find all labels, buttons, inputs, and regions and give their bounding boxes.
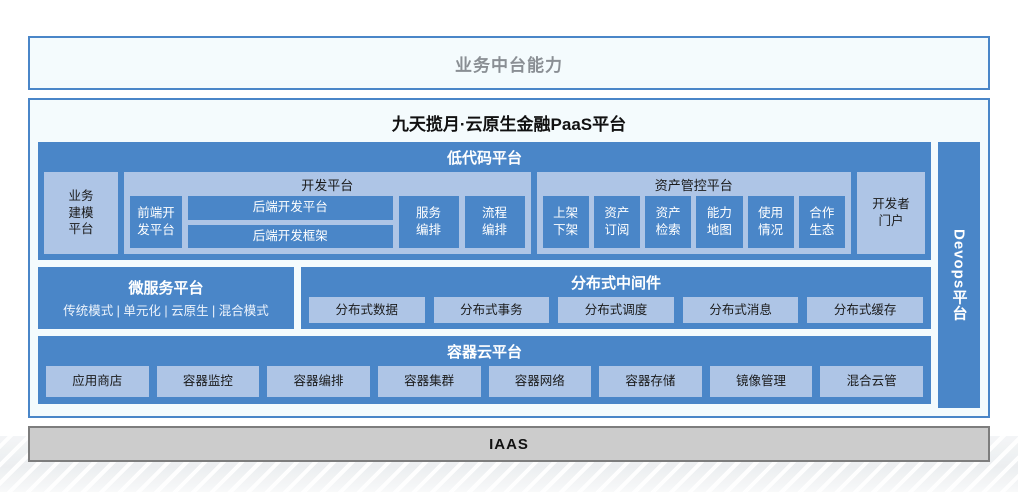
devops-platform-sidebar[interactable]: Devops平台 xyxy=(938,142,980,408)
asset-management-row: 上架 下架 资产 订阅 资产 检索 能力 地图 使用 情况 合作 生态 xyxy=(543,196,846,248)
architecture-diagram: 业务中台能力 九天揽月·云原生金融PaaS平台 低代码平台 业务 建模 平台 开… xyxy=(0,0,1018,492)
asset-item-subscription[interactable]: 资产 订阅 xyxy=(594,196,640,248)
devops-platform-label: Devops平台 xyxy=(949,229,970,321)
paas-platform-title: 九天揽月·云原生金融PaaS平台 xyxy=(38,106,980,142)
capability-band: 业务中台能力 xyxy=(28,36,990,90)
process-orchestration-card[interactable]: 流程 编排 xyxy=(465,196,525,248)
container-item-storage[interactable]: 容器存储 xyxy=(599,366,702,397)
backend-dev-column: 后端开发平台 后端开发框架 xyxy=(188,196,393,248)
asset-item-search[interactable]: 资产 检索 xyxy=(645,196,691,248)
development-platform-row: 前端开 发平台 后端开发平台 后端开发框架 服务 编排 流程 编排 xyxy=(130,196,525,248)
asset-item-usage[interactable]: 使用 情况 xyxy=(748,196,794,248)
container-item-orchestration[interactable]: 容器编排 xyxy=(267,366,370,397)
service-orchestration-card[interactable]: 服务 编排 xyxy=(399,196,459,248)
container-cloud-platform-title: 容器云平台 xyxy=(38,336,931,366)
middleware-item-data[interactable]: 分布式数据 xyxy=(309,297,425,323)
distributed-middleware-title: 分布式中间件 xyxy=(301,267,931,297)
lowcode-platform-section: 低代码平台 业务 建模 平台 开发平台 前端开 发平台 后端开发平台 后端开发框… xyxy=(38,142,931,260)
lowcode-platform-row: 业务 建模 平台 开发平台 前端开 发平台 后端开发平台 后端开发框架 服务 编… xyxy=(38,172,931,260)
distributed-middleware-row: 分布式数据 分布式事务 分布式调度 分布式消息 分布式缓存 xyxy=(301,297,931,329)
backend-dev-platform-card[interactable]: 后端开发平台 xyxy=(188,196,393,220)
container-item-monitoring[interactable]: 容器监控 xyxy=(157,366,260,397)
container-item-hybrid-cloud[interactable]: 混合云管 xyxy=(820,366,923,397)
asset-item-partner-ecosystem[interactable]: 合作 生态 xyxy=(799,196,845,248)
container-item-network[interactable]: 容器网络 xyxy=(489,366,592,397)
container-cloud-platform-section: 容器云平台 应用商店 容器监控 容器编排 容器集群 容器网络 容器存储 镜像管理… xyxy=(38,336,931,404)
iaas-band: IAAS xyxy=(28,426,990,462)
paas-platform-frame: 九天揽月·云原生金融PaaS平台 低代码平台 业务 建模 平台 开发平台 前端开… xyxy=(28,98,990,418)
container-cloud-row: 应用商店 容器监控 容器编排 容器集群 容器网络 容器存储 镜像管理 混合云管 xyxy=(38,366,931,404)
backend-dev-framework-card[interactable]: 后端开发框架 xyxy=(188,225,393,249)
container-item-image-management[interactable]: 镜像管理 xyxy=(710,366,813,397)
developer-portal-card[interactable]: 开发者 门户 xyxy=(857,172,925,254)
capability-band-title: 业务中台能力 xyxy=(455,51,563,76)
lowcode-platform-title: 低代码平台 xyxy=(38,142,931,172)
middleware-item-messaging[interactable]: 分布式消息 xyxy=(683,297,799,323)
asset-item-listing[interactable]: 上架 下架 xyxy=(543,196,589,248)
paas-platform-body: 低代码平台 业务 建模 平台 开发平台 前端开 发平台 后端开发平台 后端开发框… xyxy=(38,142,980,408)
iaas-title: IAAS xyxy=(489,436,529,453)
business-modeling-platform-card[interactable]: 业务 建模 平台 xyxy=(44,172,118,254)
asset-item-capability-map[interactable]: 能力 地图 xyxy=(696,196,742,248)
microservice-platform-section[interactable]: 微服务平台 传统模式 | 单元化 | 云原生 | 混合模式 xyxy=(38,267,294,329)
middle-layer-row: 微服务平台 传统模式 | 单元化 | 云原生 | 混合模式 分布式中间件 分布式… xyxy=(38,267,931,329)
middleware-item-scheduling[interactable]: 分布式调度 xyxy=(558,297,674,323)
microservice-platform-title: 微服务平台 xyxy=(128,277,203,300)
paas-layer-stack: 低代码平台 业务 建模 平台 开发平台 前端开 发平台 后端开发平台 后端开发框… xyxy=(38,142,931,408)
development-platform-panel: 开发平台 前端开 发平台 后端开发平台 后端开发框架 服务 编排 流程 编排 xyxy=(124,172,531,254)
asset-management-platform-title: 资产管控平台 xyxy=(543,172,846,196)
container-item-app-store[interactable]: 应用商店 xyxy=(46,366,149,397)
container-item-cluster[interactable]: 容器集群 xyxy=(378,366,481,397)
distributed-middleware-section: 分布式中间件 分布式数据 分布式事务 分布式调度 分布式消息 分布式缓存 xyxy=(301,267,931,329)
frontend-dev-platform-card[interactable]: 前端开 发平台 xyxy=(130,196,182,248)
development-platform-title: 开发平台 xyxy=(130,172,525,196)
asset-management-platform-panel: 资产管控平台 上架 下架 资产 订阅 资产 检索 能力 地图 使用 情况 合作 … xyxy=(537,172,852,254)
microservice-modes-text: 传统模式 | 单元化 | 云原生 | 混合模式 xyxy=(63,300,269,319)
middleware-item-cache[interactable]: 分布式缓存 xyxy=(807,297,923,323)
middleware-item-transaction[interactable]: 分布式事务 xyxy=(434,297,550,323)
